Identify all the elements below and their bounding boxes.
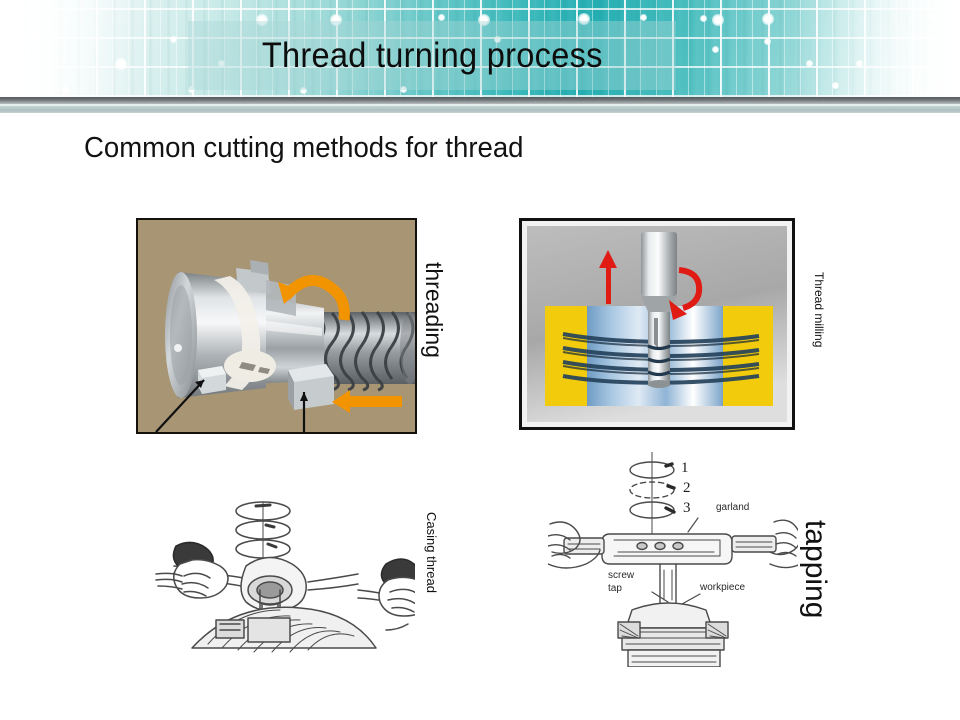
tapping-illustration [548, 452, 798, 667]
banner-dot [62, 86, 69, 93]
thread-milling-illustration [527, 226, 787, 422]
banner-dot [115, 58, 127, 70]
figure-thread-milling [519, 218, 795, 430]
banner-dot [832, 82, 839, 89]
banner-dot [170, 36, 177, 43]
threading-illustration [138, 220, 415, 432]
annotation-workpiece: workpiece [700, 582, 745, 595]
figure-threading-label: threading [420, 262, 447, 358]
banner-dot [700, 15, 707, 22]
banner-dot [930, 14, 937, 21]
slide-subtitle: Common cutting methods for thread [84, 132, 523, 165]
header-divider-dark [0, 97, 960, 104]
banner-dot [712, 46, 719, 53]
figure-thread-milling-label: Thread milling [812, 272, 826, 347]
tapping-step-1: 1 [681, 460, 689, 477]
title-plate: Thread turning process [188, 21, 676, 90]
figure-tapping-label: tapping [798, 520, 832, 618]
banner-dot [764, 38, 771, 45]
tapping-step-3: 3 [683, 500, 691, 517]
banner-dot [806, 60, 813, 67]
banner-dot [762, 13, 774, 25]
figure-casing-thread-label: Casing thread [424, 512, 439, 593]
figure-threading [136, 218, 417, 434]
banner-dot [856, 60, 863, 67]
banner-dot [438, 14, 445, 21]
annotation-screw-tap: screw tap [608, 570, 634, 595]
banner-dot [712, 14, 724, 26]
figure-tapping: 1 2 3 garland screw tap workpiece [548, 452, 798, 667]
page-title: Thread turning process [262, 36, 603, 76]
header-divider-light [0, 104, 960, 113]
tapping-step-2: 2 [683, 480, 691, 497]
banner-dot [640, 14, 647, 21]
banner-left-fade [0, 0, 150, 97]
annotation-garland: garland [716, 502, 749, 515]
casing-thread-illustration [150, 478, 415, 658]
figure-casing-thread [150, 478, 415, 658]
